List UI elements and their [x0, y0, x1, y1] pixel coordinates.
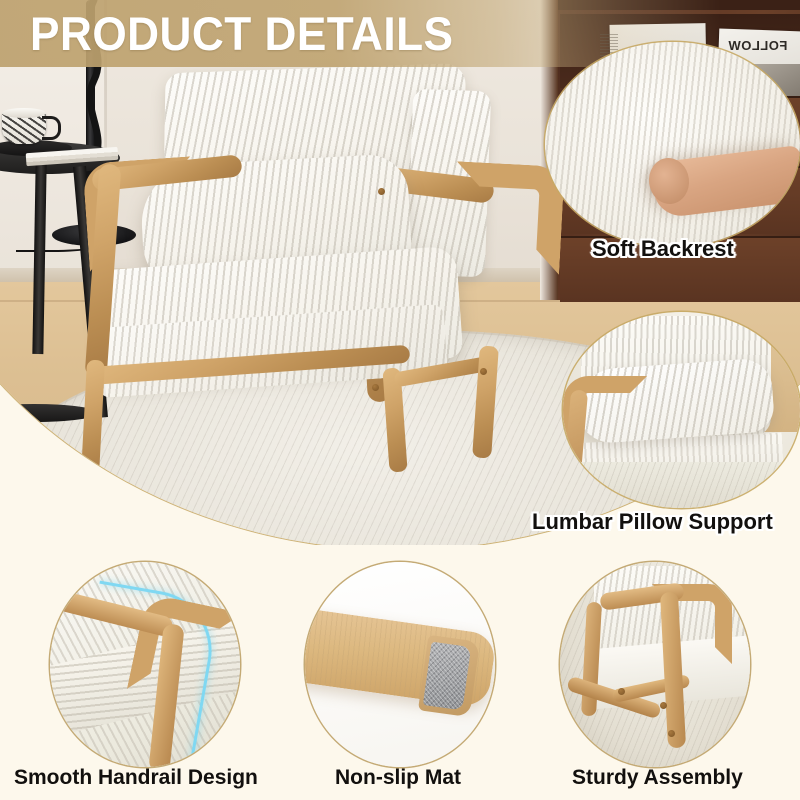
callout-smooth-handrail-design — [50, 562, 240, 767]
chair-joint-peg-1 — [378, 188, 385, 195]
mug-handle — [42, 116, 61, 140]
callout-non-slip-mat — [305, 562, 495, 767]
callout-soft-backrest — [545, 42, 800, 247]
callout-label-lumbar-pillow-support: Lumbar Pillow Support — [532, 509, 773, 535]
assembly-joint-peg-1 — [618, 688, 625, 695]
chair-joint-peg-3 — [480, 368, 487, 375]
callout-label-soft-backrest: Soft Backrest — [592, 236, 734, 262]
product-detail-image: FOLLOW — [0, 0, 800, 800]
callout-label-sturdy-assembly: Sturdy Assembly — [572, 766, 743, 790]
chair-joint-peg-2 — [372, 384, 379, 391]
assembly-joint-peg-3 — [668, 730, 675, 737]
mug-rim — [2, 108, 46, 118]
callout-label-smooth-handrail-design: Smooth Handrail Design — [14, 766, 258, 790]
soft-backrest-cushion-surface — [545, 42, 800, 247]
accent-armchair — [110, 68, 530, 488]
callout-lumbar-pillow-support — [563, 312, 800, 508]
page-title: PRODUCT DETAILS — [30, 8, 453, 60]
callout-sturdy-assembly — [560, 562, 750, 767]
assembly-joint-peg-2 — [660, 702, 667, 709]
callout-label-non-slip-mat: Non-slip Mat — [335, 766, 461, 790]
lumbar-scene-rug — [563, 462, 800, 508]
